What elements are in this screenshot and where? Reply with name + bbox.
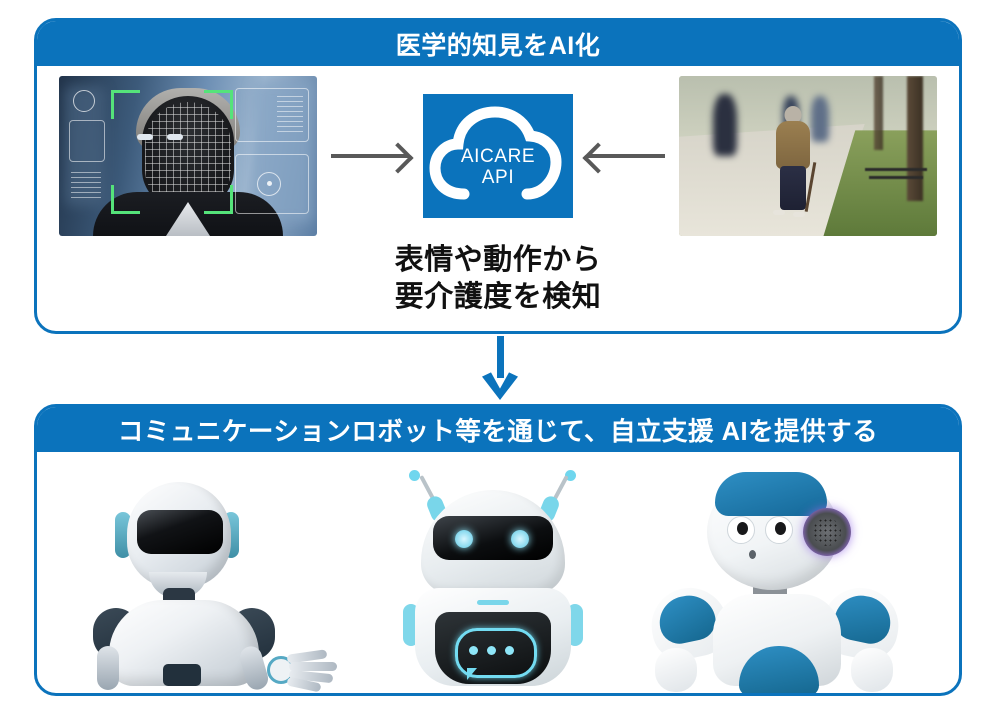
photo-tree-trunk	[874, 76, 883, 150]
panel-bottom-header: コミュニケーションロボット等を通じて、自立支援 AIを提供する	[37, 407, 959, 452]
nao-style-robot	[625, 464, 925, 686]
logo-line-1: AICARE	[423, 146, 573, 167]
facial-recognition-photo	[59, 76, 317, 236]
mesh-eye-left	[137, 134, 153, 140]
person-shoe	[793, 212, 805, 217]
robot-pupil	[737, 522, 748, 535]
arrow-right-to-center	[587, 143, 665, 169]
robot-arm	[97, 646, 119, 690]
robot-mouth	[749, 550, 756, 559]
hud-circle-icon	[73, 90, 95, 112]
walking-cane	[805, 162, 817, 212]
visor-humanoid-robot	[71, 468, 361, 686]
person-legs	[780, 166, 806, 210]
top-content-row: AICARE API	[37, 66, 959, 246]
robot-indicator-strip	[477, 600, 509, 605]
panel-robot-delivery: コミュニケーションロボット等を通じて、自立支援 AIを提供する	[34, 404, 962, 696]
hud-panel-icon	[69, 120, 105, 162]
arrow-down-connector	[482, 336, 518, 402]
top-panel-caption: 表情や動作から 要介護度を検知	[37, 242, 959, 316]
photo-bench	[865, 168, 927, 171]
panel-top-header: 医学的知見をAI化	[37, 21, 959, 66]
caption-line-1: 表情や動作から	[37, 242, 959, 279]
hud-bars-icon	[277, 96, 303, 132]
arrow-shaft	[497, 336, 504, 378]
panel-bottom-header-text: コミュニケーションロボット等を通じて、自立支援 AIを提供する	[118, 411, 878, 448]
hud-waveform-icon	[71, 168, 101, 198]
chat-dot	[469, 646, 478, 655]
person-shoe	[773, 210, 785, 215]
logo-line-2: API	[423, 167, 573, 188]
diagram-canvas: 医学的知見をAI化	[0, 0, 1000, 712]
caption-line-2: 要介護度を検知	[37, 279, 959, 316]
robot-arm	[655, 648, 697, 692]
panel-top-header-text: 医学的知見をAI化	[396, 26, 601, 62]
chat-bubble-robot	[393, 472, 593, 686]
scan-bracket-icon	[111, 90, 140, 119]
robot-eye	[455, 530, 473, 548]
chat-bubble-tail	[467, 668, 477, 680]
arrow-head	[382, 142, 413, 173]
robot-pupil	[775, 522, 786, 535]
person-jacket	[776, 121, 810, 169]
robot-visor	[137, 510, 223, 554]
hud-dot-icon	[267, 181, 272, 186]
scan-bracket-icon	[204, 185, 233, 214]
aicare-api-logo: AICARE API	[423, 94, 573, 218]
robot-arm	[851, 648, 893, 692]
scan-bracket-icon	[111, 185, 140, 214]
chat-dot	[505, 646, 514, 655]
elderly-walking-photo	[679, 76, 937, 236]
photo-tree-trunk	[907, 76, 923, 201]
arrow-head	[582, 142, 613, 173]
scan-bracket-icon	[204, 90, 233, 119]
robot-antenna-tip	[409, 470, 420, 481]
photo-elderly-person	[763, 106, 823, 234]
robot-speaker-mesh	[813, 518, 841, 546]
photo-bench	[869, 176, 923, 179]
arrow-left-to-center	[331, 143, 409, 169]
robot-visor	[433, 516, 553, 560]
aicare-api-label: AICARE API	[423, 146, 573, 189]
panel-medical-ai: 医学的知見をAI化	[34, 18, 962, 334]
robot-hand	[287, 650, 353, 684]
robot-eye	[511, 530, 529, 548]
robot-head-cap	[715, 472, 827, 516]
mesh-eye-right	[167, 134, 183, 140]
robot-row	[37, 452, 959, 692]
chat-dot	[487, 646, 496, 655]
robot-belt	[163, 664, 201, 686]
photo-background-person	[713, 94, 737, 156]
